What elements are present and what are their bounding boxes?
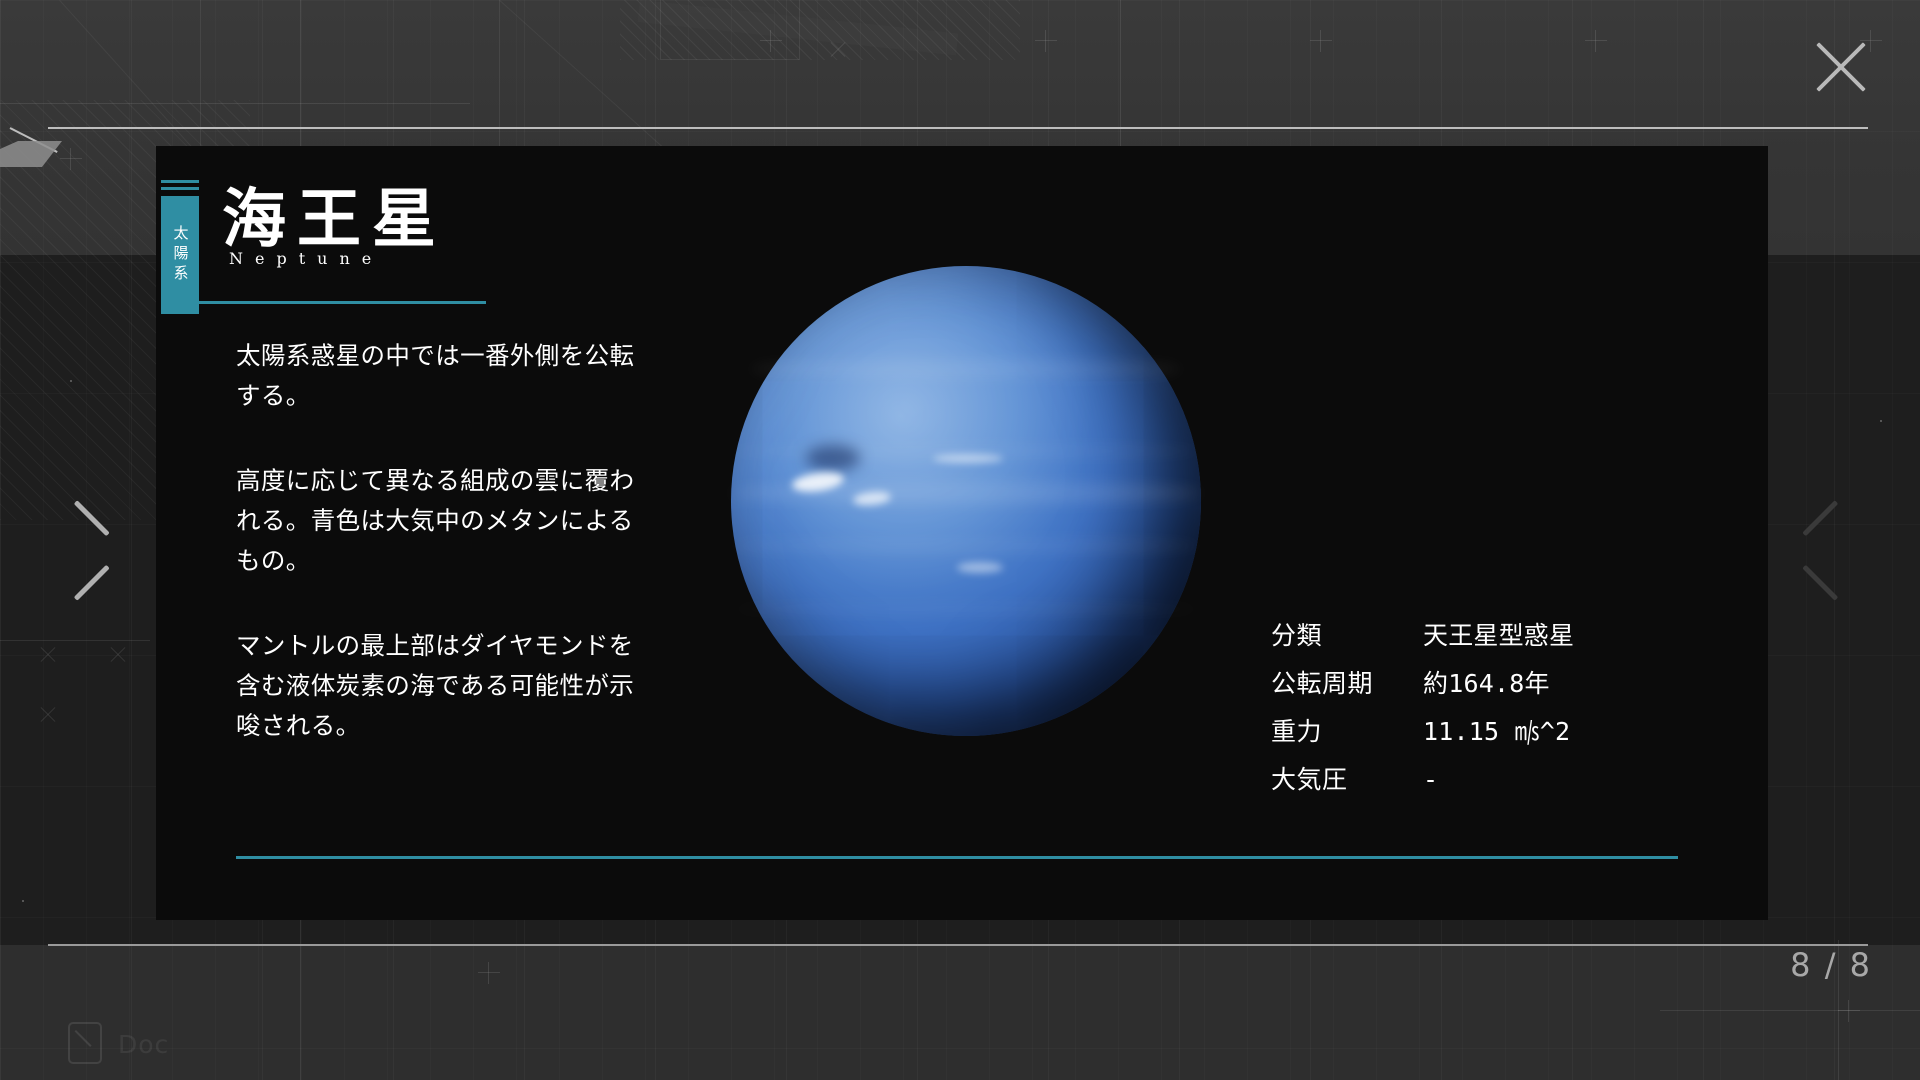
background-speck-2 — [1880, 420, 1882, 422]
prev-slide-button[interactable] — [58, 512, 122, 586]
spec-key-gravity: 重力 — [1271, 712, 1423, 748]
planet-cloud-3 — [933, 454, 1003, 463]
background-x-mark-1 — [828, 40, 848, 60]
description-paragraph-1: 太陽系惑星の中では一番外側を公転する。 — [236, 336, 656, 415]
spec-key-atmospheric-pressure: 大気圧 — [1271, 760, 1423, 796]
document-icon-label: Doc — [118, 1030, 169, 1059]
table-row: 分類 天王星型惑星 — [1271, 616, 1574, 652]
background-x-mark-3 — [108, 645, 128, 665]
description-paragraph-3: マントルの最上部はダイヤモンドを含む液体炭素の海である可能性が示唆される。 — [236, 626, 656, 745]
spec-value-classification: 天王星型惑星 — [1423, 616, 1574, 652]
table-row: 公転周期 約164.8年 — [1271, 664, 1574, 700]
frame-bottom-line — [48, 944, 1868, 946]
table-row: 重力 11.15 ㎧^2 — [1271, 712, 1574, 748]
background-crosshair-6 — [478, 962, 500, 984]
planet-image — [731, 266, 1201, 736]
spec-value-gravity: 11.15 ㎧^2 — [1423, 712, 1570, 748]
spec-key-orbital-period: 公転周期 — [1271, 664, 1423, 700]
title-block: 海王星 Neptune — [222, 186, 562, 268]
planet-band-4 — [731, 539, 1201, 553]
close-icon[interactable] — [1806, 32, 1876, 102]
spec-table: 分類 天王星型惑星 公転周期 約164.8年 重力 11.15 ㎧^2 大気圧 … — [1271, 616, 1574, 808]
frame-top-line — [48, 127, 1868, 129]
spec-key-classification: 分類 — [1271, 616, 1423, 652]
page-title: 海王星 — [222, 186, 562, 253]
planet-sphere — [731, 266, 1201, 736]
background-x-mark-2 — [38, 645, 58, 665]
background-crosshair-2 — [1035, 30, 1057, 52]
spec-value-orbital-period: 約164.8年 — [1423, 664, 1550, 700]
next-slide-button[interactable] — [1798, 512, 1862, 586]
frame-corner-tab — [0, 127, 70, 167]
description-column: 太陽系惑星の中では一番外側を公転する。 高度に応じて異なる組成の雲に覆われる。青… — [236, 336, 656, 746]
section-badge-label: 太陽系 — [173, 225, 188, 285]
planet-cloud-4 — [957, 562, 1003, 573]
section-badge-bars — [161, 180, 199, 194]
background-speck-1 — [70, 380, 72, 382]
title-underline — [161, 301, 486, 304]
background-hline-1 — [0, 103, 470, 104]
planet-dark-spot — [806, 445, 860, 471]
background-crosshair-1 — [760, 30, 782, 52]
planet-band-5 — [731, 604, 1201, 614]
section-badge-bar-1 — [161, 180, 199, 183]
spec-value-atmospheric-pressure: - — [1423, 765, 1438, 794]
background-box-1 — [200, 0, 500, 160]
background-crosshair-4 — [1585, 30, 1607, 52]
document-icon — [68, 1022, 102, 1064]
planet-band-1 — [750, 360, 1182, 378]
background-speck-3 — [22, 900, 24, 902]
description-paragraph-2: 高度に応じて異なる組成の雲に覆われる。青色は大気中のメタンによるもの。 — [236, 461, 656, 580]
background-crosshair-3 — [1310, 30, 1332, 52]
table-row: 大気圧 - — [1271, 760, 1574, 796]
section-badge-bar-2 — [161, 187, 199, 190]
background-crosshair-7 — [1838, 1000, 1860, 1022]
background-hline-2 — [0, 640, 150, 641]
slide-card: 太陽系 海王星 Neptune 太陽系惑星の中では一番外側を公転する。 高度に応… — [156, 146, 1768, 920]
page-indicator: 8 / 8 — [1790, 946, 1872, 984]
section-badge: 太陽系 — [161, 196, 199, 314]
card-bottom-rule — [236, 856, 1678, 859]
background-x-mark-4 — [38, 705, 58, 725]
background-hline-3 — [1660, 1010, 1920, 1011]
